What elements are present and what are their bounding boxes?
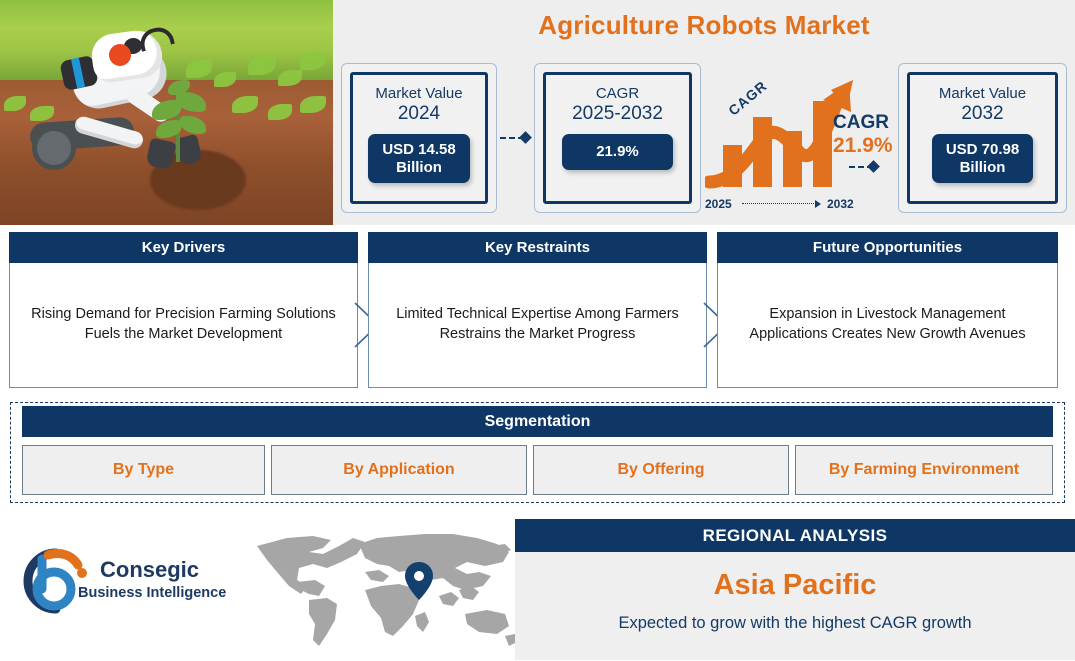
stat-card-inner: Market Value 2032 USD 70.98 Billion xyxy=(907,72,1058,204)
segmentation-chip-by-offering[interactable]: By Offering xyxy=(533,445,789,495)
cagr-value: 21.9% xyxy=(833,134,893,158)
regional-analysis-body: Asia Pacific Expected to grow with the h… xyxy=(515,552,1075,660)
top-band: Agriculture Robots Market Market Value 2… xyxy=(0,0,1075,225)
segmentation-chip-by-application[interactable]: By Application xyxy=(271,445,527,495)
segmentation-chip-label: By Type xyxy=(113,461,174,479)
pillar-heading-label: Key Restraints xyxy=(485,239,590,256)
pillar-heading-label: Future Opportunities xyxy=(813,239,962,256)
pillar-text: Rising Demand for Precision Farming Solu… xyxy=(24,305,343,344)
cagr-start-year: 2025 xyxy=(705,197,732,211)
stat-year: 2032 xyxy=(961,103,1003,126)
segmentation-chip-label: By Farming Environment xyxy=(829,461,1019,479)
cagr-end-year: 2032 xyxy=(827,197,854,211)
stat-value-line2: Billion xyxy=(946,159,1019,177)
consegic-logo-icon xyxy=(12,543,98,621)
pillar-body-key-drivers: Rising Demand for Precision Farming Solu… xyxy=(9,263,358,388)
pillar-body-key-restraints: Limited Technical Expertise Among Farmer… xyxy=(368,263,707,388)
brand-name: Consegic xyxy=(100,557,199,583)
stat-value-pill: USD 14.58 Billion xyxy=(368,134,469,183)
pillar-heading-future-opportunities: Future Opportunities xyxy=(717,232,1058,263)
stat-label: Market Value xyxy=(375,85,462,102)
pillar-text: Limited Technical Expertise Among Farmer… xyxy=(383,305,692,344)
cagr-year-arrow-head xyxy=(815,200,821,208)
cagr-year-arrow-line xyxy=(742,203,818,204)
stat-card-inner: CAGR 2025-2032 21.9% xyxy=(543,72,692,204)
stat-value-line1: USD 70.98 xyxy=(946,141,1019,159)
segmentation-heading: Segmentation xyxy=(22,406,1053,437)
stat-value-pill: USD 70.98 Billion xyxy=(932,134,1033,183)
pillar-text: Expansion in Livestock Management Applic… xyxy=(732,305,1043,344)
stat-year: 2025-2032 xyxy=(572,103,663,126)
segmentation-chip-by-type[interactable]: By Type xyxy=(22,445,265,495)
stat-card-market-value-2032: Market Value 2032 USD 70.98 Billion xyxy=(898,63,1067,213)
robot-eye xyxy=(109,44,131,66)
cagr-bar-4 xyxy=(813,101,832,187)
cagr-bar-3 xyxy=(783,131,802,187)
stat-card-market-value-2024: Market Value 2024 USD 14.58 Billion xyxy=(341,63,497,213)
hero-image-agriculture-robot xyxy=(0,0,333,225)
stat-value-line1: 21.9% xyxy=(596,143,639,161)
pillar-body-future-opportunities: Expansion in Livestock Management Applic… xyxy=(717,263,1058,388)
pillar-heading-key-drivers: Key Drivers xyxy=(9,232,358,263)
stat-card-cagr: CAGR 2025-2032 21.9% xyxy=(534,63,701,213)
stat-year: 2024 xyxy=(398,103,440,126)
cagr-bar-1 xyxy=(723,145,742,187)
cagr-growth-chart-icon: CAGR CAGR 21.9% 2025 2032 xyxy=(705,78,895,213)
regional-analysis-subtitle: Expected to grow with the highest CAGR g… xyxy=(618,614,971,633)
brand-tagline: Business Intelligence xyxy=(78,585,226,601)
robot-wheel xyxy=(32,126,76,170)
segmentation-chip-by-farming-environment[interactable]: By Farming Environment xyxy=(795,445,1053,495)
pillar-heading-label: Key Drivers xyxy=(142,239,225,256)
brand-logo: Consegic Business Intelligence xyxy=(12,543,244,623)
world-map xyxy=(253,528,519,656)
stat-value-line1: USD 14.58 xyxy=(382,141,455,159)
pillar-heading-key-restraints: Key Restraints xyxy=(368,232,707,263)
cagr-title: CAGR xyxy=(833,112,889,134)
regional-analysis-heading: REGIONAL ANALYSIS xyxy=(515,519,1075,552)
segmentation-heading-label: Segmentation xyxy=(485,413,591,431)
connector-diamond-1 xyxy=(519,131,532,144)
stat-value-pill: 21.9% xyxy=(562,134,673,170)
cagr-bar-2 xyxy=(753,117,772,187)
page-title: Agriculture Robots Market xyxy=(333,10,1075,41)
stat-label: Market Value xyxy=(939,85,1026,102)
regional-analysis-heading-label: REGIONAL ANALYSIS xyxy=(703,526,888,546)
regional-analysis-region: Asia Pacific xyxy=(714,569,877,602)
infographic-page: Agriculture Robots Market Market Value 2… xyxy=(0,0,1075,660)
stat-value-line2: Billion xyxy=(382,159,455,177)
stat-label: CAGR xyxy=(596,85,639,102)
segmentation-chip-label: By Application xyxy=(343,461,454,479)
stat-card-inner: Market Value 2024 USD 14.58 Billion xyxy=(350,72,488,204)
segmentation-chip-label: By Offering xyxy=(617,461,704,479)
world-map-svg xyxy=(253,528,519,656)
